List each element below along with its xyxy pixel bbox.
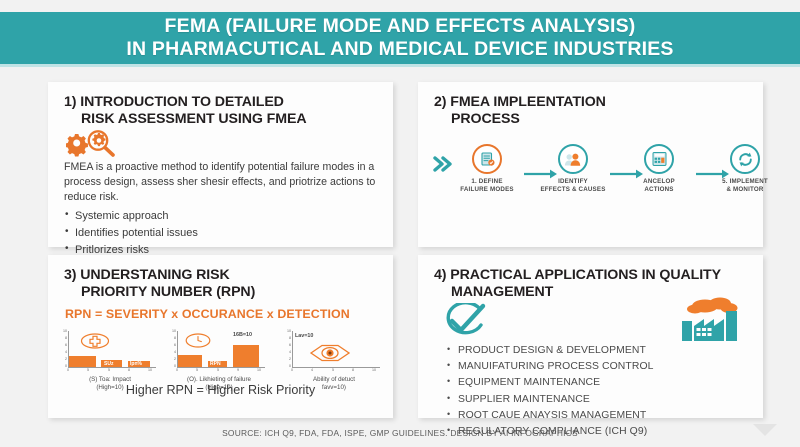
step-label-line-1: 1. DEFINE <box>471 178 502 185</box>
page-title: FEMA (FAILURE MODE AND EFFECTS ANALYSIS)… <box>126 15 673 61</box>
x-tick: 5 <box>332 368 334 372</box>
x-tick: 5 <box>108 368 110 372</box>
panel-rpn: 3) UNDERSTANING RISK PRIORITY NUMBER (RP… <box>48 255 393 418</box>
y-tick: 8 <box>284 336 291 340</box>
x-axis <box>68 367 156 368</box>
eye-icon <box>310 344 350 367</box>
bar-label: Ipn% <box>130 361 142 367</box>
process-step-1[interactable]: 1. DEFINE FAILURE MODES <box>454 144 520 194</box>
y-axis <box>292 331 293 367</box>
medical-cross-icon <box>80 333 110 354</box>
bar <box>233 345 259 367</box>
panel1-paragraph: FMEA is a proactive method to identify p… <box>64 160 376 205</box>
y-tick: 2 <box>60 357 67 361</box>
chart-occurrence-plot: 10 8 6 4 2 0 0 5 5 9 10 <box>169 331 269 373</box>
bar: SUz <box>101 360 122 367</box>
y-tick: 2 <box>284 357 291 361</box>
rpn-footer-text: Higher RPN = Higher Risk Priority <box>48 383 393 397</box>
chart-occurrence-annotation: 16B=10 <box>233 332 252 338</box>
factory-icon <box>680 295 742 348</box>
panel-applications: 4) PRACTICAL APPLICATIONS IN QUALITY MAN… <box>418 255 763 418</box>
infographic-page: FEMA (FAILURE MODE AND EFFECTS ANALYSIS)… <box>0 0 800 447</box>
bar-label: SUz <box>104 361 113 367</box>
step-label-line-2: & MONITOR <box>726 186 763 193</box>
watermark-icon <box>752 422 778 443</box>
x-tick: 10 <box>148 368 152 372</box>
panel1-title-line-1: 1) INTRODUCTION TO DETAILED <box>64 94 284 110</box>
panel4-title-line-1: 4) PRACTICAL APPLICATIONS IN QUALITY <box>434 267 721 283</box>
document-icon <box>472 144 502 174</box>
y-tick: 10 <box>284 329 291 333</box>
calculator-icon <box>644 144 674 174</box>
x-tick: 8 <box>352 368 354 372</box>
panel1-body: FMEA is a proactive method to identify p… <box>64 160 376 258</box>
x-tick: 10 <box>257 368 261 372</box>
rpn-formula: RPN = SEVERITY x OCCURANCE x DETECTION <box>65 307 350 321</box>
step-label-line-2: EFFECTS & CAUSES <box>540 186 605 193</box>
list-item: Identifies potential issues <box>64 225 376 242</box>
process-step-4[interactable]: 5. IMPLEMENT & MONITOR <box>712 144 778 194</box>
panel3-title-line-2: PRIORITY NUMBER (RPN) <box>64 284 379 301</box>
x-axis <box>177 367 265 368</box>
refresh-icon <box>730 144 760 174</box>
caption-line-1: (O). Likhieting of failure <box>187 376 251 383</box>
y-tick: 2 <box>169 357 176 361</box>
gear-magnifier-icon <box>66 128 128 163</box>
x-tick: 5 <box>217 368 219 372</box>
rpn-charts: 10 8 6 4 2 0 0 5 5 8 10 <box>56 331 386 381</box>
double-chevron-right-icon <box>432 154 454 179</box>
x-tick: 5 <box>196 368 198 372</box>
process-step-3[interactable]: ANCELOP ACTIONS <box>626 144 692 194</box>
x-tick: 10 <box>372 368 376 372</box>
caption-line-1: (S) Toa: Impact <box>89 376 131 383</box>
y-tick: 8 <box>169 336 176 340</box>
x-tick: 0 <box>291 368 293 372</box>
source-footer: SOURCE: ICH Q9, FDA, FDA, ISPE, GMP GUID… <box>0 428 800 438</box>
process-step-2[interactable]: IDENTIFY EFFECTS & CAUSES <box>540 144 606 194</box>
x-axis <box>292 367 380 368</box>
list-item: ROOT CAUE ANAYSIS MANAGEMENT <box>446 408 654 424</box>
title-line-2: IN PHARMACUTICAL AND MEDICAL DEVICE INDU… <box>126 38 673 61</box>
bar-label: RPN <box>210 361 221 367</box>
list-item: EQUIPMENT MAINTENANCE <box>446 375 654 391</box>
header-band: FEMA (FAILURE MODE AND EFFECTS ANALYSIS)… <box>0 12 800 64</box>
y-tick: 8 <box>60 336 67 340</box>
y-tick: 0 <box>60 364 67 368</box>
y-tick: 6 <box>284 343 291 347</box>
people-icon <box>558 144 588 174</box>
y-tick: 6 <box>169 343 176 347</box>
caption-line-1: Ability of detuct <box>313 376 355 383</box>
x-tick: 0 <box>176 368 178 372</box>
list-item: SUPPLIER MAINTENANCE <box>446 392 654 408</box>
panel4-bullet-list: PRODUCT DESIGN & DEVELOPMENT MANUIFATURI… <box>446 343 654 440</box>
panel3-title: 3) UNDERSTANING RISK PRIORITY NUMBER (RP… <box>48 255 393 302</box>
y-tick: 4 <box>169 350 176 354</box>
y-tick: 10 <box>169 329 176 333</box>
bar: RPN <box>208 361 227 367</box>
title-line-1: FEMA (FAILURE MODE AND EFFECTS ANALYSIS) <box>165 15 636 37</box>
x-tick: 0 <box>67 368 69 372</box>
bar: Ipn% <box>128 361 150 367</box>
panel3-title-line-1: 3) UNDERSTANING RISK <box>64 267 230 283</box>
panel2-title: 2) FMEA IMPLEENTATION PROCESS <box>418 82 763 129</box>
y-tick: 0 <box>284 364 291 368</box>
y-tick: 4 <box>284 350 291 354</box>
check-circle-icon <box>440 303 486 346</box>
panel2-title-line-2: PROCESS <box>434 111 749 128</box>
panel-introduction: 1) INTRODUCTION TO DETAILED RISK ASSESSM… <box>48 82 393 247</box>
panel1-bullet-list: Systemic approach Identifies potential i… <box>64 208 376 258</box>
bar <box>178 355 202 367</box>
step-label-line-1: ANCELOP <box>643 178 675 185</box>
clock-icon <box>185 333 211 353</box>
panel2-title-line-1: 2) FMEA IMPLEENTATION <box>434 94 606 110</box>
x-tick: 9 <box>237 368 239 372</box>
panel1-title: 1) INTRODUCTION TO DETAILED RISK ASSESSM… <box>48 82 393 129</box>
list-item: Systemic approach <box>64 208 376 225</box>
x-tick: 5 <box>87 368 89 372</box>
step-label-line-2: ACTIONS <box>644 186 673 193</box>
x-tick: 8 <box>128 368 130 372</box>
bar <box>69 356 96 367</box>
process-step-1-label: 1. DEFINE FAILURE MODES <box>454 178 520 194</box>
list-item: PRODUCT DESIGN & DEVELOPMENT <box>446 343 654 359</box>
step-label-line-1: IDENTIFY <box>558 178 588 185</box>
chart-severity-plot: 10 8 6 4 2 0 0 5 5 8 10 <box>60 331 160 373</box>
y-tick: 6 <box>60 343 67 347</box>
step-label-line-1: 5. IMPLEMENT <box>722 178 768 185</box>
header-underline <box>0 64 800 67</box>
panel1-title-line-2: RISK ASSESSMENT USING FMEA <box>64 111 379 128</box>
step-label-line-2: FAILURE MODES <box>460 186 513 193</box>
process-step-2-label: IDENTIFY EFFECTS & CAUSES <box>540 178 606 194</box>
y-tick: 0 <box>169 364 176 368</box>
process-flow: 1. DEFINE FAILURE MODES <box>428 144 753 206</box>
panel-implementation-process: 2) FMEA IMPLEENTATION PROCESS <box>418 82 763 247</box>
process-step-4-label: 5. IMPLEMENT & MONITOR <box>712 178 778 194</box>
process-step-3-label: ANCELOP ACTIONS <box>626 178 692 194</box>
x-tick: 4 <box>311 368 313 372</box>
chart-detection-annotation: Lav=10 <box>295 333 313 339</box>
y-tick: 10 <box>60 329 67 333</box>
y-tick: 4 <box>60 350 67 354</box>
chart-detection-plot: 10 8 6 4 2 0 0 4 5 8 10 Lav=10 <box>284 331 384 373</box>
list-item: MANUIFATURING PROCESS CONTROL <box>446 359 654 375</box>
